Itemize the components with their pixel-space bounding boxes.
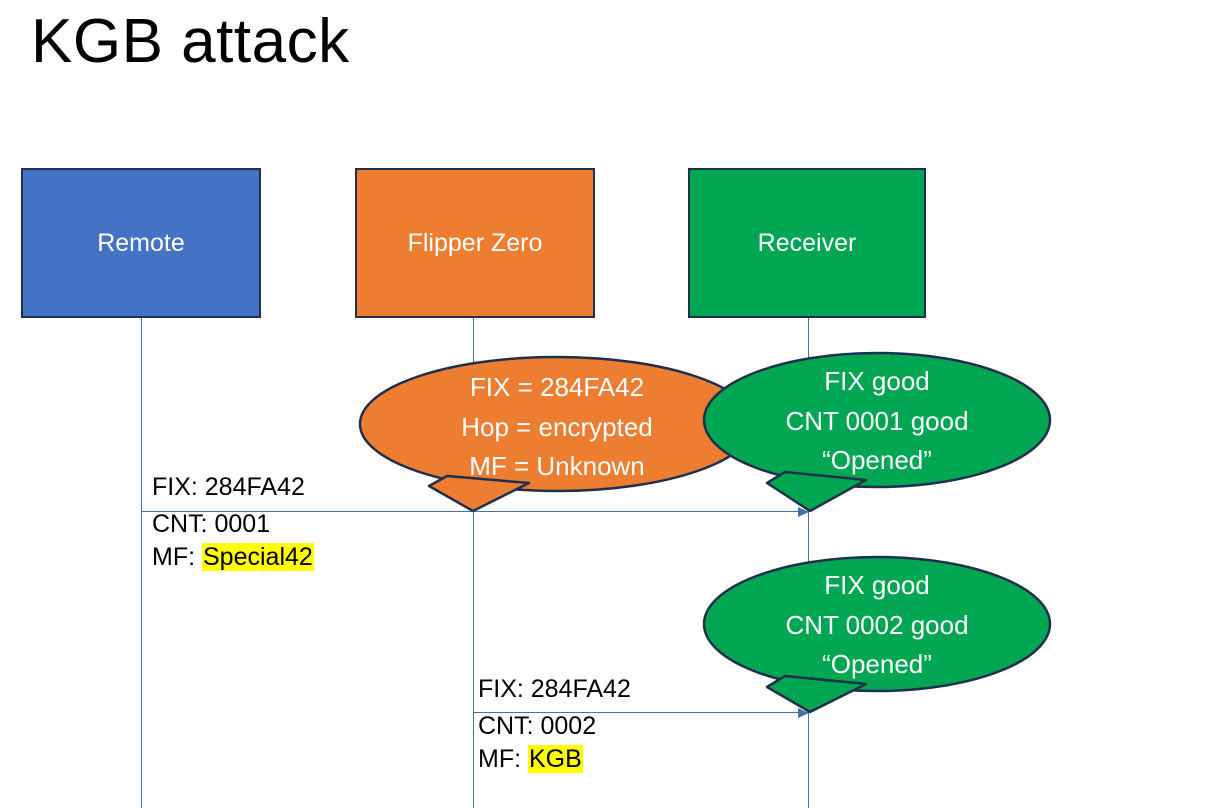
message-2-line-cnt: CNT: 0002 [478, 710, 596, 743]
actor-box-remote[interactable]: Remote [21, 168, 261, 318]
message-body-2: CNT: 0002 MF: KGB [478, 710, 596, 776]
message-2-mf-prefix: MF: [478, 745, 528, 773]
actor-box-receiver[interactable]: Receiver [688, 168, 926, 318]
message-1-mf-value: Special42 [202, 543, 314, 571]
speech-bubble-receiver-1[interactable]: FIX good CNT 0001 good “Opened” [703, 352, 1051, 514]
actor-label-receiver: Receiver [758, 228, 857, 258]
speech-bubble-receiver-2-shape [703, 556, 1051, 714]
speech-bubble-flipper-shape [359, 356, 755, 514]
speech-bubble-receiver-2[interactable]: FIX good CNT 0002 good “Opened” [703, 556, 1051, 714]
message-body-1: CNT: 0001 MF: Special42 [152, 508, 314, 574]
message-1-line-fix: FIX: 284FA42 [152, 471, 305, 504]
message-1-line-mf: MF: Special42 [152, 541, 314, 574]
message-label-2: FIX: 284FA42 [478, 673, 631, 706]
actor-box-flipper[interactable]: Flipper Zero [355, 168, 595, 318]
message-2-line-fix: FIX: 284FA42 [478, 673, 631, 706]
actor-label-remote: Remote [97, 228, 185, 258]
speech-bubble-receiver-1-shape [703, 352, 1051, 514]
page-title: KGB attack [31, 6, 350, 77]
message-2-mf-value: KGB [528, 745, 583, 773]
actor-label-flipper: Flipper Zero [408, 228, 543, 258]
speech-bubble-flipper[interactable]: FIX = 284FA42 Hop = encrypted MF = Unkno… [359, 356, 755, 514]
slide-canvas: KGB attack Remote Flipper Zero Receiver … [0, 0, 1218, 808]
message-1-line-cnt: CNT: 0001 [152, 508, 314, 541]
lifeline-remote [141, 318, 142, 808]
message-label-1: FIX: 284FA42 [152, 471, 305, 504]
message-1-mf-prefix: MF: [152, 543, 202, 571]
message-2-line-mf: MF: KGB [478, 743, 596, 776]
